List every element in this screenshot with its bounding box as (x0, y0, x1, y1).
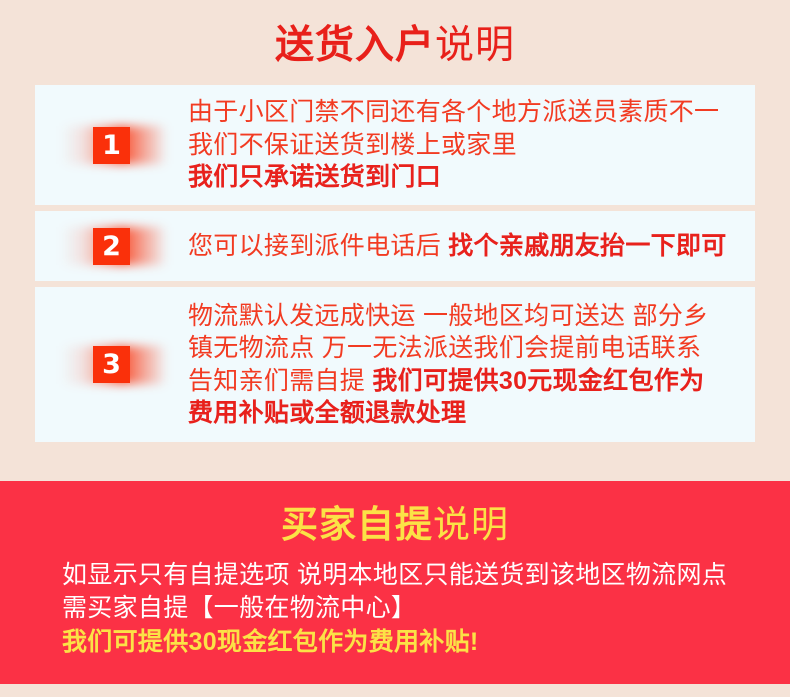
delivery-item-2-text: 您可以接到派件电话后 找个亲戚朋友抬一下即可 (188, 230, 755, 263)
pickup-line-1-text: 如显示只有自提选项 说明本地区只能送货到该地区物流网点 (62, 561, 727, 589)
delivery-item-1-line-2-regular: 我们不保证送货到楼上或家里 (188, 131, 517, 159)
delivery-item-1-line-1: 由于小区门禁不同还有各个地方派送员素质不一 (188, 96, 737, 129)
delivery-item-3-line-4: 费用补贴或全额退款处理 (188, 397, 737, 430)
delivery-item-2-line-1: 您可以接到派件电话后 找个亲戚朋友抬一下即可 (188, 230, 737, 263)
badge-container-2: 2 (35, 211, 188, 281)
delivery-item-3-line-2-regular: 镇无物流点 万一无法派送我们会提前电话联系 (188, 334, 701, 362)
pickup-line-3: 我们可提供30现金红包作为费用补贴! (62, 626, 790, 659)
delivery-item-2: 2 您可以接到派件电话后 找个亲戚朋友抬一下即可 (35, 211, 755, 281)
delivery-item-1-text: 由于小区门禁不同还有各个地方派送员素质不一 我们不保证送货到楼上或家里 我们只承… (188, 96, 755, 194)
buyer-pickup-section: 买家自提说明 如显示只有自提选项 说明本地区只能送货到该地区物流网点 需买家自提… (0, 481, 790, 684)
delivery-title-strong: 送货入户 (275, 24, 435, 67)
delivery-item-3-line-3: 告知亲们需自提 我们可提供30元现金红包作为 (188, 365, 737, 398)
pickup-line-1: 如显示只有自提选项 说明本地区只能送货到该地区物流网点 (62, 559, 790, 592)
pickup-body-text: 如显示只有自提选项 说明本地区只能送货到该地区物流网点 需买家自提【一般在物流中… (0, 559, 790, 659)
delivery-item-1-line-2: 我们不保证送货到楼上或家里 (188, 129, 737, 162)
delivery-item-3-line-2: 镇无物流点 万一无法派送我们会提前电话联系 (188, 332, 737, 365)
delivery-item-3-text: 物流默认发远成快运 一般地区均可送达 部分乡 镇无物流点 万一无法派送我们会提前… (188, 300, 755, 430)
badge-container-1: 1 (35, 85, 188, 205)
pickup-title-light: 说明 (433, 504, 509, 545)
delivery-item-2-line-1-bold: 找个亲戚朋友抬一下即可 (448, 232, 726, 260)
pickup-line-2: 需买家自提【一般在物流中心】 (62, 592, 790, 625)
delivery-item-1-line-3-bold: 我们只承诺送货到门口 (188, 163, 441, 191)
delivery-instructions-section: 送货入户说明 1 由于小区门禁不同还有各个地方派送员素质不一 我们不保证送货到楼… (0, 0, 790, 442)
number-badge-3: 3 (93, 346, 130, 383)
delivery-item-1-line-1-regular: 由于小区门禁不同还有各个地方派送员素质不一 (188, 98, 719, 126)
pickup-line-2-text: 需买家自提【一般在物流中心】 (62, 594, 416, 622)
number-badge-1: 1 (93, 127, 130, 164)
delivery-item-3-line-1-regular: 物流默认发远成快运 一般地区均可送达 部分乡 (188, 302, 709, 330)
pickup-title-strong: 买家自提 (281, 504, 433, 545)
number-badge-2: 2 (93, 228, 130, 265)
delivery-item-2-line-1-regular: 您可以接到派件电话后 (188, 232, 448, 260)
delivery-section-title: 送货入户说明 (0, 26, 790, 65)
pickup-line-3-text: 我们可提供30现金红包作为费用补贴! (62, 628, 479, 656)
delivery-item-3-line-1: 物流默认发远成快运 一般地区均可送达 部分乡 (188, 300, 737, 333)
delivery-item-3: 3 物流默认发远成快运 一般地区均可送达 部分乡 镇无物流点 万一无法派送我们会… (35, 287, 755, 442)
delivery-item-3-line-3-bold: 我们可提供30元现金红包作为 (372, 367, 704, 395)
delivery-item-3-line-4-bold: 费用补贴或全额退款处理 (188, 399, 466, 427)
delivery-item-3-line-3-regular: 告知亲们需自提 (188, 367, 372, 395)
delivery-title-light: 说明 (435, 24, 515, 67)
pickup-section-title: 买家自提说明 (0, 506, 790, 543)
delivery-item-1: 1 由于小区门禁不同还有各个地方派送员素质不一 我们不保证送货到楼上或家里 我们… (35, 85, 755, 205)
delivery-item-1-line-3: 我们只承诺送货到门口 (188, 161, 737, 194)
promo-page: 送货入户说明 1 由于小区门禁不同还有各个地方派送员素质不一 我们不保证送货到楼… (0, 0, 790, 697)
badge-container-3: 3 (35, 287, 188, 442)
section-divider (0, 442, 790, 481)
